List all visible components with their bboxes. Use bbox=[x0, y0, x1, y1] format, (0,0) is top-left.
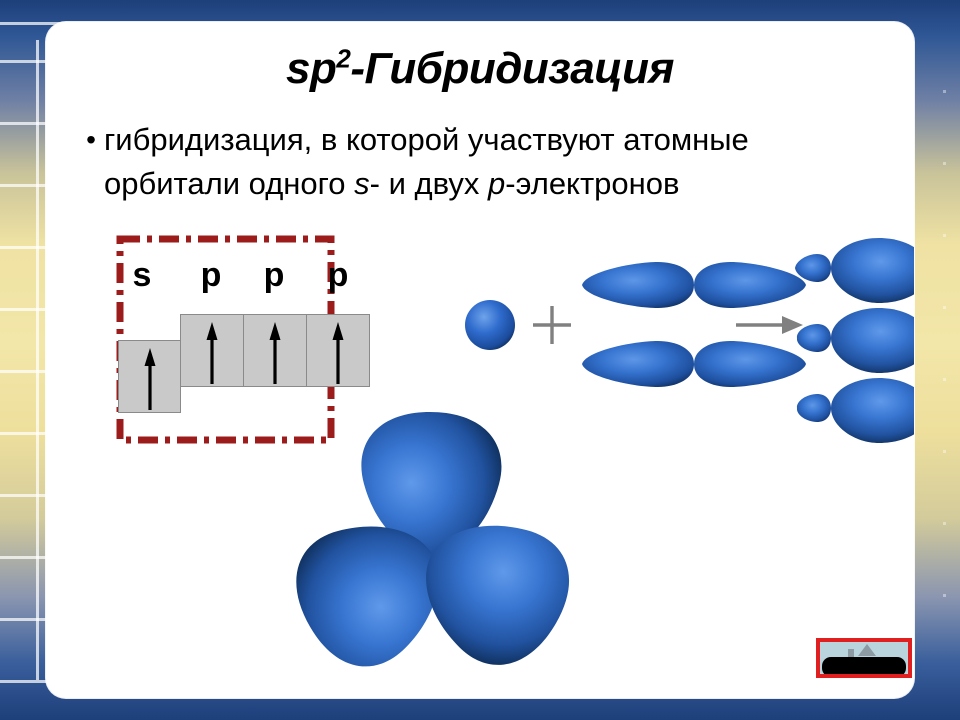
title-suffix: -Гибридизация bbox=[350, 44, 674, 93]
bullet-line-1: гибридизация, в которой участвуют атомны… bbox=[104, 122, 749, 157]
orbital-box-s bbox=[118, 340, 181, 413]
sp2-back-lobe-upper-left bbox=[382, 514, 442, 572]
bullet-text: гибридизация, в которой участвуют атомны… bbox=[104, 118, 898, 206]
bullet-line-2-c: -электронов bbox=[505, 166, 679, 201]
background-dots-right bbox=[943, 90, 946, 630]
bullet-paragraph: • гибридизация, в которой участвуют атом… bbox=[78, 118, 898, 206]
bullet-line-2-a: орбитали одного bbox=[104, 166, 354, 201]
title-sp: sp bbox=[286, 44, 336, 93]
orbital-label-px: p bbox=[191, 258, 231, 292]
orbital-box-py bbox=[243, 314, 307, 387]
arrow-right-icon bbox=[736, 316, 803, 334]
orbital-box-pz bbox=[306, 314, 370, 387]
watermark-glyph-arrow bbox=[858, 644, 876, 656]
bullet-emphasis-s: s bbox=[354, 166, 370, 201]
background-grid-vertical-left bbox=[36, 40, 39, 680]
p-orbital-dumbbell-2 bbox=[582, 341, 806, 387]
orbital-label-s: s bbox=[122, 258, 162, 292]
sp2-main-lobe-lower-left bbox=[274, 494, 467, 686]
sp2-back-lobe-upper-right bbox=[422, 514, 482, 572]
watermark-redaction-bar bbox=[822, 657, 906, 677]
slide-panel: sp2-Гибридизация • гибридизация, в котор… bbox=[46, 22, 914, 698]
sp2-hybrid-orbital-1 bbox=[795, 238, 914, 303]
electron-configuration-diagram: s p p p bbox=[96, 222, 406, 472]
plus-icon bbox=[533, 306, 571, 344]
sp2-back-lobe-down bbox=[412, 554, 452, 600]
orbital-label-pz: p bbox=[318, 258, 358, 292]
slide-title: sp2-Гибридизация bbox=[46, 44, 914, 94]
bullet-emphasis-p: p bbox=[488, 166, 505, 201]
bullet-marker: • bbox=[78, 118, 104, 162]
bullet-line-2-b: - и двух bbox=[370, 166, 488, 201]
watermark-badge bbox=[816, 638, 912, 678]
p-orbital-dumbbell-1 bbox=[582, 262, 806, 308]
sp2-hybrid-orbital-3 bbox=[797, 378, 914, 443]
s-orbital-sphere bbox=[465, 300, 515, 350]
sp2-main-lobe-lower-right bbox=[397, 493, 590, 685]
title-superscript: 2 bbox=[336, 43, 350, 73]
sp2-hybrid-orbital-2 bbox=[797, 308, 914, 373]
slide-root: sp2-Гибридизация • гибридизация, в котор… bbox=[0, 0, 960, 720]
orbital-box-px bbox=[180, 314, 244, 387]
watermark-glyph-small bbox=[848, 649, 854, 657]
orbital-label-py: p bbox=[254, 258, 294, 292]
